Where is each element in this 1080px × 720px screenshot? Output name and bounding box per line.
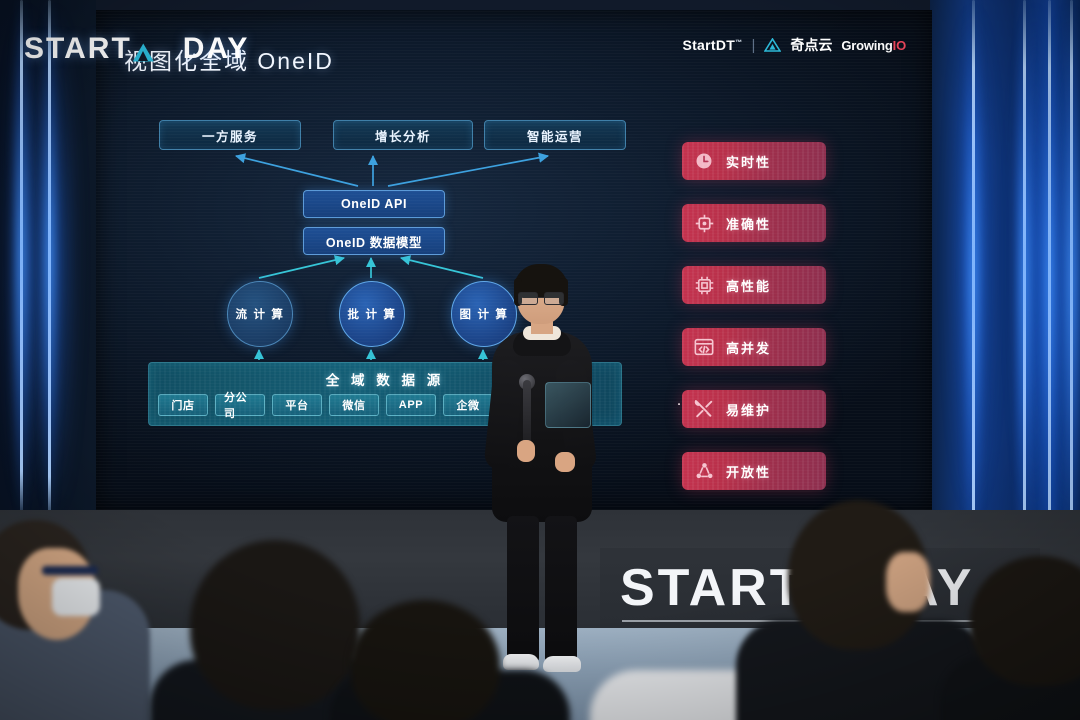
watermark-day: DAY (183, 32, 250, 66)
audience-member-5 (760, 500, 970, 720)
clock-icon (682, 151, 726, 171)
code-icon (682, 337, 726, 357)
top-box-0: 一方服务 (159, 120, 301, 150)
speaker (487, 268, 597, 648)
watermark-start: START (24, 32, 132, 66)
target-icon (682, 213, 726, 234)
watermark-logo: START DAY (24, 32, 249, 66)
feature-card-label: 实时性 (726, 152, 771, 171)
feature-card-label: 准确性 (726, 214, 771, 233)
feature-card-concurrency: 高并发 (682, 328, 826, 366)
source-tag-3: 微信 (329, 394, 379, 416)
feature-card-realtime: 实时性 (682, 142, 826, 180)
circle-batch-compute: 批 计 算 (339, 281, 405, 347)
feature-card-maintainability: 易维护 (682, 390, 826, 428)
audience-member-1 (0, 520, 150, 720)
top-box-2: 智能运营 (484, 120, 626, 150)
feature-card-label: 开放性 (726, 462, 771, 481)
neon-strip-right-2 (1023, 0, 1026, 560)
feature-card-openness: 开放性 (682, 452, 826, 490)
neon-strip-right-1 (972, 0, 975, 560)
audience-member-6 (960, 556, 1080, 720)
tools-icon (682, 398, 726, 420)
speaker-badge (545, 382, 591, 428)
top-box-1: 增长分析 (333, 120, 473, 150)
mid-box-oneid-data-model: OneID 数据模型 (303, 227, 445, 255)
feature-card-label: 高并发 (726, 338, 771, 357)
mid-box-oneid-api: OneID API (303, 190, 445, 218)
data-source-tag-row: 门店 分公司 平台 微信 APP 企微 小程序 ··· (158, 394, 711, 416)
neon-strip-right-3 (1048, 0, 1051, 560)
neon-strip-left-1 (20, 0, 23, 512)
source-tag-0: 门店 (158, 394, 208, 416)
conference-photo: 视图化全域 OneID StartDT™ | 奇点云 GrowingIO (0, 0, 1080, 720)
feature-card-performance: 高性能 (682, 266, 826, 304)
neon-strip-left-2 (48, 0, 51, 518)
eyeglasses-icon (518, 292, 564, 303)
feature-card-label: 易维护 (726, 400, 771, 419)
feature-card-accuracy: 准确性 (682, 204, 826, 242)
audience-member-3 (330, 600, 560, 720)
share-icon (682, 461, 726, 482)
source-tag-2: 平台 (272, 394, 322, 416)
source-tag-4: APP (386, 394, 436, 416)
feature-card-label: 高性能 (726, 276, 771, 295)
source-tag-5: 企微 (443, 394, 493, 416)
chip-icon (682, 275, 726, 296)
circle-stream-compute: 流 计 算 (227, 281, 293, 347)
source-tag-1: 分公司 (215, 394, 265, 416)
feature-card-list: 实时性 准确性 (682, 142, 826, 490)
watermark-triangle-icon (133, 43, 154, 62)
neon-strip-right-4 (1070, 0, 1073, 560)
